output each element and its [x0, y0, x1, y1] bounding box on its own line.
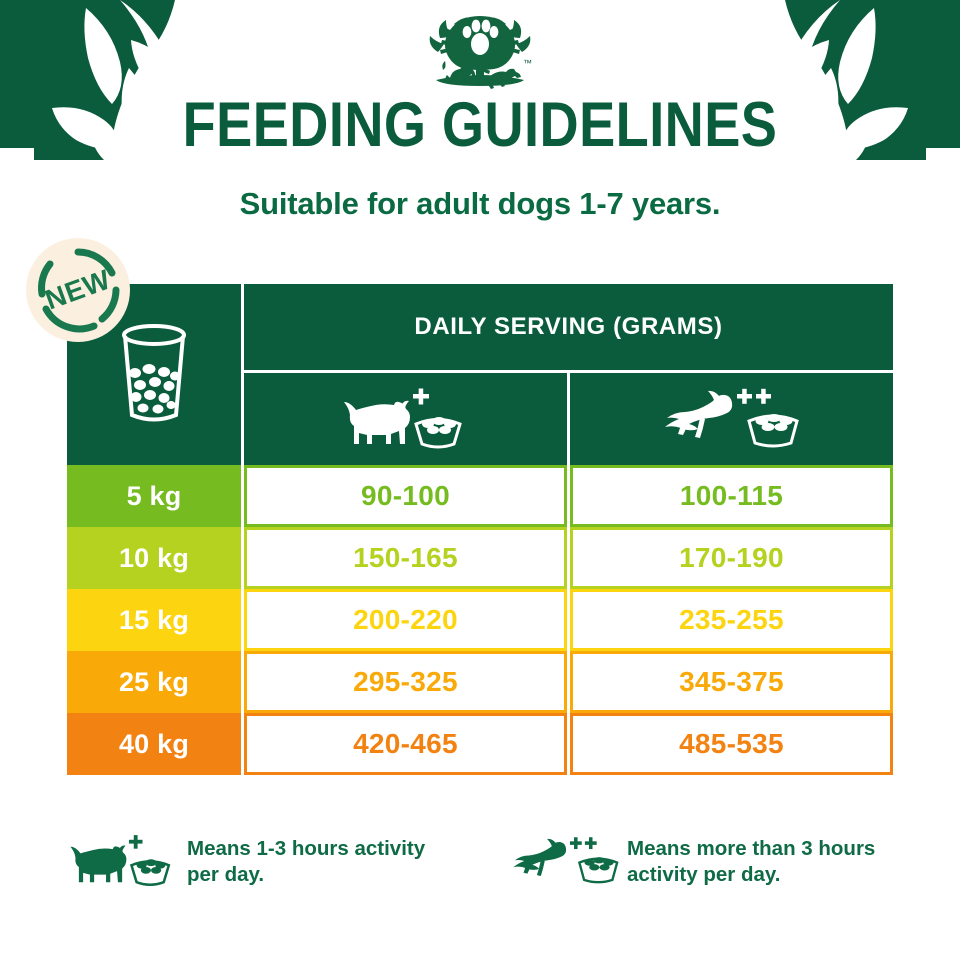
page-title: FEEDING GUIDELINES [67, 92, 893, 158]
standing-dog-bowl-icon [67, 830, 179, 892]
serving-cell-high: 485-535 [570, 713, 893, 775]
legend-item-high-activity: Means more than 3 hours activity per day… [507, 830, 907, 892]
serving-cell-low: 150-165 [244, 527, 567, 589]
table-row: 15 kg200-220235-255 [67, 589, 893, 651]
serving-cell-low: 295-325 [244, 651, 567, 713]
legend-label-low-activity: Means 1-3 hours activity per day. [187, 830, 457, 888]
legend-label-high-activity: Means more than 3 hours activity per day… [627, 830, 897, 888]
tree-paw-logo: ™ [420, 14, 540, 94]
activity-column-high [570, 373, 893, 465]
table-row: 5 kg90-100100-115 [67, 465, 893, 527]
weight-cell: 15 kg [67, 589, 241, 651]
weight-cell: 40 kg [67, 713, 241, 775]
feeding-guidelines-table: DAILY SERVING (GRAMS) [67, 284, 893, 775]
table-header: DAILY SERVING (GRAMS) [67, 284, 893, 465]
table-row: 25 kg295-325345-375 [67, 651, 893, 713]
weight-cell: 5 kg [67, 465, 241, 527]
legend-item-low-activity: Means 1-3 hours activity per day. [67, 830, 507, 892]
table-row: 10 kg150-165170-190 [67, 527, 893, 589]
activity-column-low [244, 373, 567, 465]
weight-cell: 25 kg [67, 651, 241, 713]
serving-cell-low: 200-220 [244, 589, 567, 651]
serving-cell-high: 170-190 [570, 527, 893, 589]
table-header-right: DAILY SERVING (GRAMS) [241, 284, 893, 465]
jumping-dog-bowl-icon [507, 830, 619, 892]
serving-cell-high: 100-115 [570, 465, 893, 527]
page-subtitle: Suitable for adult dogs 1-7 years. [0, 186, 960, 222]
jumping-dog-bowl-icon [657, 387, 807, 451]
new-badge-label: NEW [11, 223, 144, 356]
serving-cell-low: 420-465 [244, 713, 567, 775]
serving-cell-high: 345-375 [570, 651, 893, 713]
legend: Means 1-3 hours activity per day. [67, 830, 907, 892]
serving-cell-low: 90-100 [244, 465, 567, 527]
table-row: 40 kg420-465485-535 [67, 713, 893, 775]
new-badge: NEW [26, 238, 130, 342]
weight-cell: 10 kg [67, 527, 241, 589]
table-body: 5 kg90-100100-11510 kg150-165170-19015 k… [67, 465, 893, 775]
brand-logo: ™ [420, 14, 540, 94]
daily-serving-header: DAILY SERVING (GRAMS) [244, 284, 893, 370]
activity-icon-row [244, 373, 893, 465]
serving-cell-high: 235-255 [570, 589, 893, 651]
trademark-mark: ™ [523, 58, 532, 68]
standing-dog-bowl-icon [340, 388, 472, 450]
